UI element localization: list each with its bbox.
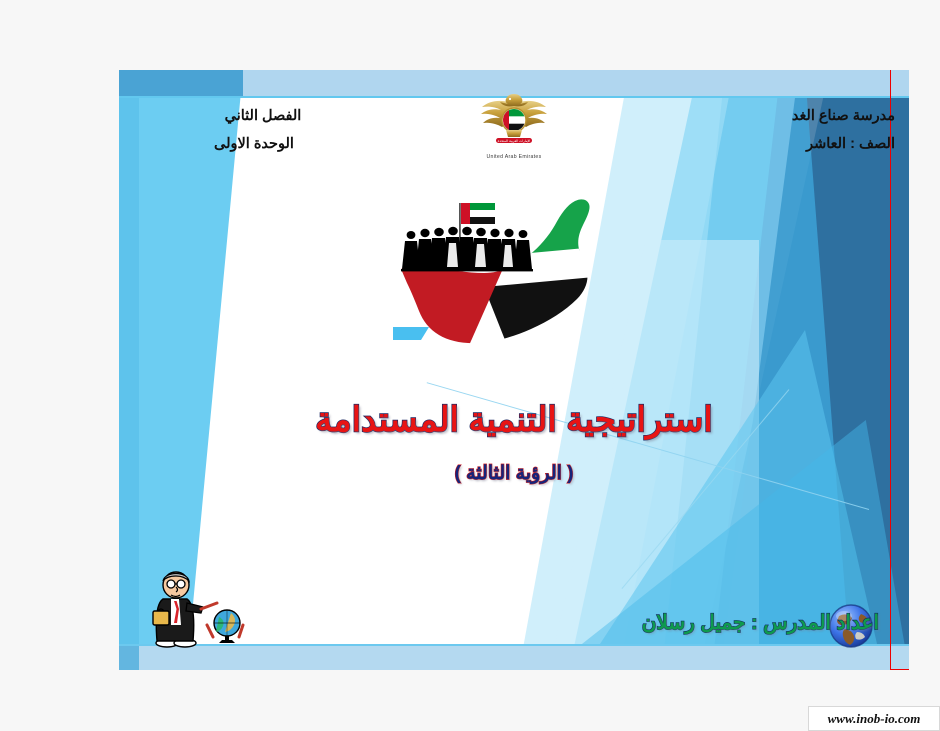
- decor-wedge-sky-b: [519, 70, 769, 670]
- cartoon-teacher-icon: [141, 563, 251, 653]
- watermark-text: www.inob-io.com: [828, 711, 921, 727]
- selection-marker: [890, 70, 909, 670]
- decor-left-stripe: [119, 70, 139, 670]
- uae-emblem-icon: الإمارات العربية المتحدة: [470, 90, 558, 148]
- uae-map-artwork: [389, 195, 639, 350]
- emblem-caption: United Arab Emirates: [470, 154, 558, 160]
- page-title: استراتيجية التنمية المستدامة: [119, 400, 909, 440]
- uae-emblem: الإمارات العربية المتحدة United Arab Emi…: [470, 90, 558, 160]
- page-subtitle: ( الرؤية الثالثة ): [119, 462, 909, 485]
- decor-bottom-band-accent: [119, 646, 139, 670]
- watermark: www.inob-io.com: [808, 706, 940, 731]
- decor-wedge-dark-right: [699, 70, 909, 670]
- semester-label: الفصل الثاني: [214, 102, 312, 130]
- school-name: مدرسة صناع الغد: [792, 102, 895, 130]
- unit-label: الوحدة الاولى: [214, 130, 312, 158]
- teacher-clipart: [141, 563, 251, 653]
- teacher-credit: اعداد المدرس : جميل رسلان: [642, 610, 879, 635]
- header-right-block: مدرسة صناع الغد الصف : العاشر: [792, 102, 895, 159]
- grade-label: الصف : العاشر: [792, 130, 895, 158]
- decor-wedge-mid-right: [641, 70, 851, 670]
- decor-wedge-sky-a: [569, 70, 799, 670]
- header-left-block: الفصل الثاني الوحدة الاولى: [214, 102, 312, 159]
- presentation-slide[interactable]: مدرسة صناع الغد الصف : العاشر الفصل الثا…: [119, 70, 909, 670]
- decor-top-band-accent: [119, 70, 243, 96]
- decor-wedge-dark-right-2: [679, 70, 909, 670]
- uae-map-icon: [389, 195, 639, 350]
- svg-text:الإمارات العربية المتحدة: الإمارات العربية المتحدة: [498, 139, 531, 144]
